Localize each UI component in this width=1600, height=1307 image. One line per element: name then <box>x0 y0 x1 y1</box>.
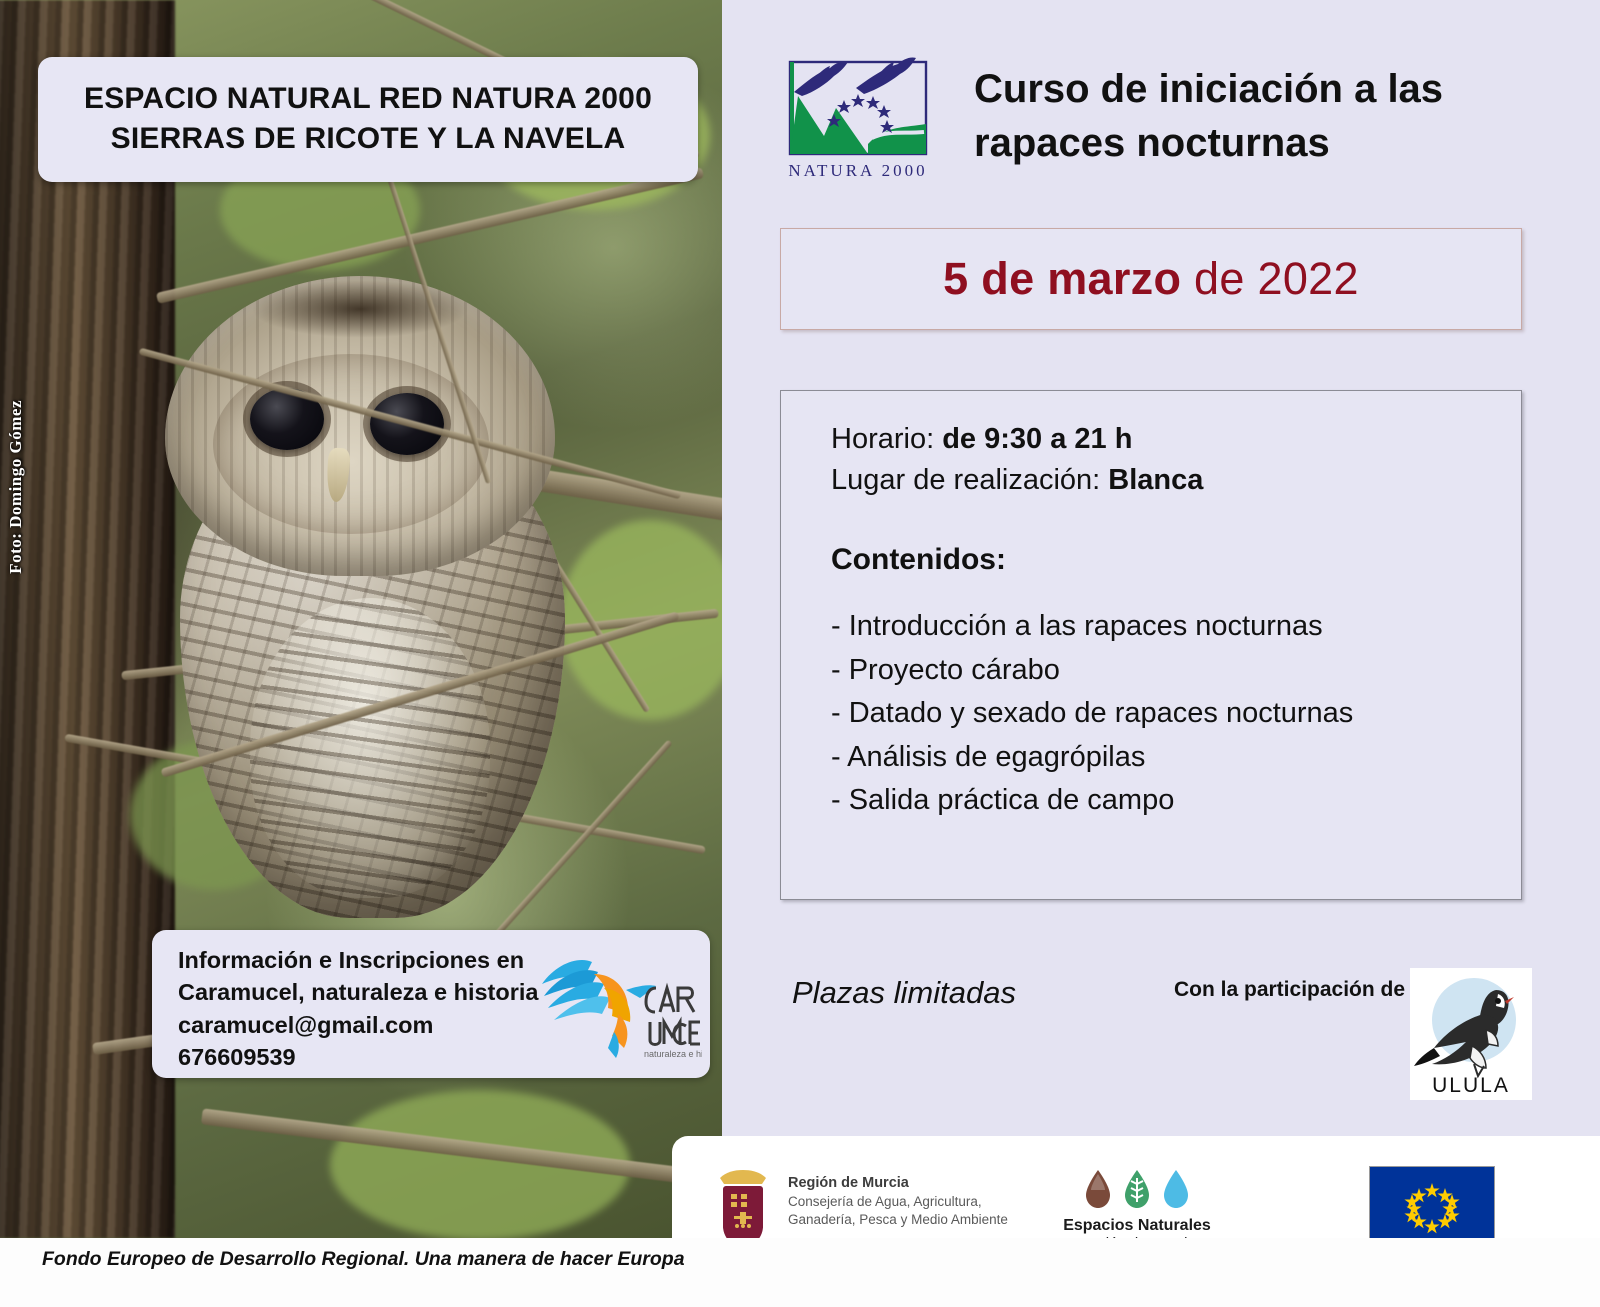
drop-water-icon <box>1161 1168 1191 1210</box>
espacio-natural-title-chip: ESPACIO NATURAL RED NATURA 2000 SIERRAS … <box>38 57 698 182</box>
photo-credit: Foto: Domingo Gómez <box>6 400 26 574</box>
caramucel-tagline: naturaleza e historia <box>644 1049 702 1059</box>
murcia-name: Región de Murcia <box>788 1174 1008 1193</box>
page-title-line1: Curso de iniciación a las <box>974 62 1554 116</box>
natura-wordmark: NATURA 2000 <box>788 161 927 180</box>
list-item: - Introducción a las rapaces nocturnas <box>831 605 1511 649</box>
list-item: - Salida práctica de campo <box>831 779 1511 823</box>
page-title-line2: rapaces nocturnas <box>974 116 1554 170</box>
info-line2: Caramucel, naturaleza e historia <box>178 976 558 1008</box>
owl <box>155 268 585 908</box>
murcia-dept-line2: Ganadería, Pesca y Medio Ambiente <box>788 1211 1008 1229</box>
feder-note: Fondo Europeo de Desarrollo Regional. Un… <box>42 1248 685 1271</box>
title-chip-line2: SIERRAS DE RICOTE Y LA NAVELA <box>48 119 688 159</box>
ulula-logo: ULULA <box>1410 968 1532 1100</box>
contents-heading: Contenidos: <box>831 543 1511 577</box>
ulula-wordmark: ULULA <box>1432 1074 1510 1097</box>
schedule-label: Horario: <box>831 423 942 455</box>
drop-soil-icon <box>1083 1168 1113 1210</box>
owl-breast <box>250 598 490 898</box>
date-box: 5 de marzo de 2022 <box>780 228 1522 330</box>
contents-list: - Introducción a las rapaces nocturnas -… <box>831 605 1511 823</box>
list-item: - Datado y sexado de rapaces nocturnas <box>831 692 1511 736</box>
date-bold: 5 de marzo <box>943 253 1181 304</box>
info-phone[interactable]: 676609539 <box>178 1041 558 1073</box>
date-rest: de 2022 <box>1181 253 1359 304</box>
date-text: 5 de marzo de 2022 <box>943 253 1359 305</box>
list-item: - Proyecto cárabo <box>831 649 1511 693</box>
drops-icons <box>1042 1168 1232 1210</box>
natura-2000-logo: NATURA 2000 <box>772 48 944 188</box>
natura-birds-icon <box>794 57 916 96</box>
page-title: Curso de iniciación a las rapaces noctur… <box>974 62 1554 170</box>
drop-leaf-icon <box>1122 1168 1152 1210</box>
place-label: Lugar de realización: <box>831 464 1108 496</box>
right-panel: NATURA 2000 Curso de iniciación a las ra… <box>722 0 1600 1307</box>
content-box: Horario: de 9:30 a 21 h Lugar de realiza… <box>780 390 1522 900</box>
info-email[interactable]: caramucel@gmail.com <box>178 1009 558 1041</box>
title-chip-line1: ESPACIO NATURAL RED NATURA 2000 <box>48 79 688 119</box>
schedule-value: de 9:30 a 21 h <box>942 423 1132 455</box>
caramucel-logo: naturaleza e historia <box>534 944 702 1062</box>
info-line1: Información e Inscripciones en <box>178 944 558 976</box>
list-item: - Análisis de egagrópilas <box>831 736 1511 780</box>
place-value: Blanca <box>1108 464 1203 496</box>
info-inscriptions-chip: Información e Inscripciones en Caramucel… <box>152 930 710 1078</box>
info-lines: Información e Inscripciones en Caramucel… <box>178 944 558 1074</box>
schedule-line: Horario: de 9:30 a 21 h <box>831 419 1511 460</box>
espacios-line1: Espacios Naturales <box>1042 1217 1232 1235</box>
place-line: Lugar de realización: Blanca <box>831 460 1511 501</box>
murcia-dept-line1: Consejería de Agua, Agricultura, <box>788 1193 1008 1211</box>
kingfisher-icon <box>542 960 656 1058</box>
caramucel-wordmark <box>646 988 700 1045</box>
tree-trunk <box>0 0 175 1238</box>
limited-places-note: Plazas limitadas <box>792 975 1016 1011</box>
participation-label: Con la participación de <box>1174 978 1405 1002</box>
poster: Foto: Domingo Gómez ESPACIO NATURAL RED … <box>0 0 1600 1307</box>
